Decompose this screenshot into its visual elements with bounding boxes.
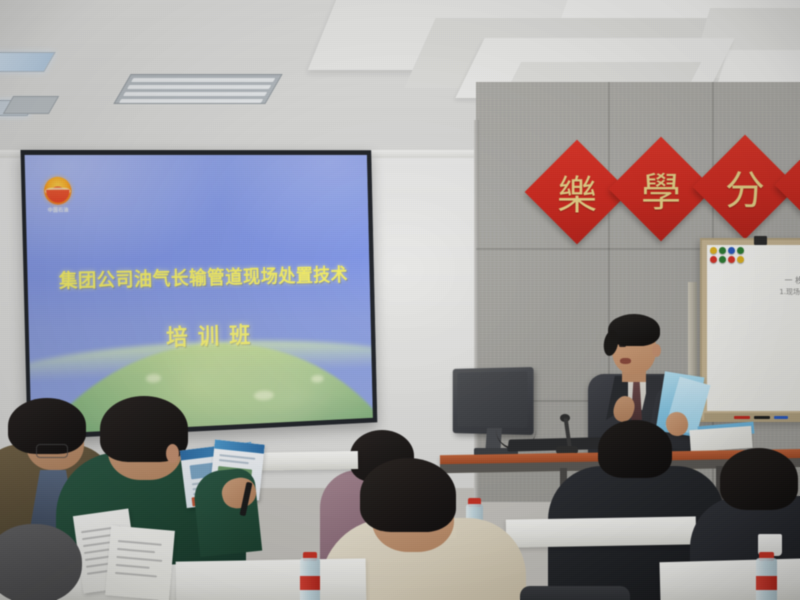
bottle-label — [756, 576, 777, 590]
whiteboard-surface: 一 枚 1.现场 — [707, 245, 800, 411]
attendee-ear — [166, 444, 179, 463]
water-bottle — [300, 552, 320, 600]
marker-icon — [774, 416, 788, 419]
banner-character: 學 — [624, 152, 698, 226]
whiteboard-clip-icon — [754, 236, 767, 245]
eyeglasses-icon — [36, 444, 68, 458]
magnet-icon — [737, 256, 744, 263]
projected-slide: 中国石油 集团公司油气长输管道现场处置技术 培训班 — [25, 155, 373, 435]
wall-corner — [474, 120, 479, 500]
banner-character: 分 — [708, 150, 782, 224]
attendee-desk — [176, 558, 367, 600]
banner-character: 享 — [790, 148, 800, 222]
bottle-label — [300, 576, 320, 590]
whiteboard-handwriting: 1.现场 — [779, 287, 800, 297]
magnet-icon — [719, 256, 726, 263]
magnet-icon — [737, 247, 744, 254]
recessed-light-icon — [0, 52, 56, 72]
whiteboard-handwriting: 一 枚 — [784, 275, 800, 286]
attendee-foreground-left — [0, 524, 82, 600]
water-bottle — [756, 552, 777, 600]
printed-papers — [105, 525, 175, 600]
desk-document — [689, 426, 752, 452]
slide-title: 集团公司油气长输管道现场处置技术 — [41, 260, 364, 293]
attendee-desk — [506, 516, 696, 547]
marker-icon — [734, 416, 750, 419]
air-vent-icon — [3, 96, 59, 114]
computer-monitor — [453, 367, 534, 435]
presenter-mouth — [620, 358, 631, 364]
attendee-hair — [360, 458, 456, 532]
air-vent-icon — [113, 74, 282, 104]
magnet-icon — [710, 256, 717, 263]
attendee-hair — [720, 448, 798, 510]
monitor-back-panel — [457, 371, 527, 427]
presenter-ear — [652, 344, 661, 357]
marker-icon — [754, 416, 770, 419]
attendee-desk — [659, 558, 800, 600]
logo-caption: 中国石油 — [42, 207, 75, 214]
whiteboard-marker-tray — [704, 413, 800, 420]
photo-scene: 樂 學 分 享 一 枚 1.现场 — [0, 0, 800, 600]
attendee-hair — [598, 420, 672, 478]
banner-character: 樂 — [540, 155, 614, 229]
cnpc-sun-logo-icon: 中国石油 — [41, 177, 75, 219]
magnet-icon — [719, 247, 726, 254]
whiteboard: 一 枚 1.现场 — [700, 238, 800, 422]
magnet-icon — [728, 247, 735, 254]
chair-back — [520, 586, 630, 600]
magnet-icon — [728, 256, 735, 263]
projection-screen: 中国石油 集团公司油气长输管道现场处置技术 培训班 — [20, 150, 377, 440]
magnet-icon — [710, 247, 717, 254]
